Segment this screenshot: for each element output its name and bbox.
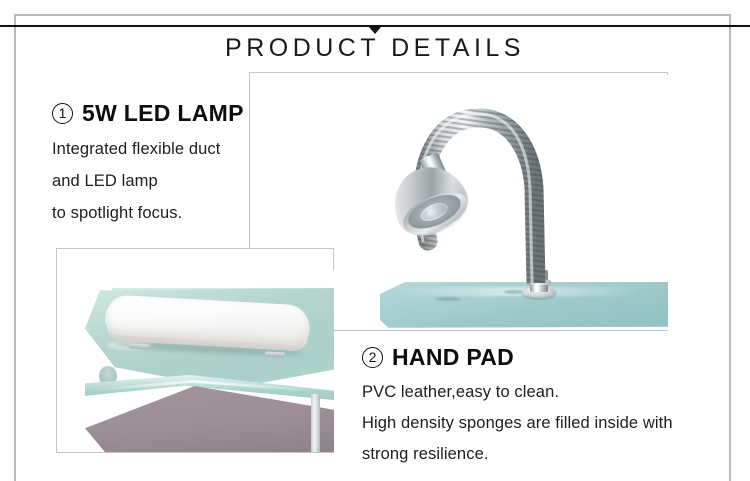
section-lamp-title: 5W LED LAMP	[82, 100, 244, 127]
section-lamp-line: and LED lamp	[52, 172, 262, 191]
section-number-badge: 2	[362, 347, 383, 368]
divider-pointer-icon	[369, 27, 381, 34]
hand-pad-photo	[85, 270, 334, 452]
glass-hole	[435, 297, 461, 301]
section-hand-pad-title: HAND PAD	[392, 344, 514, 371]
cushion-bracket	[265, 351, 285, 357]
product-details-page: PRODUCT DETAILS	[0, 0, 750, 481]
section-lamp-heading: 1 5W LED LAMP	[52, 100, 262, 127]
section-lamp-line: to spotlight focus.	[52, 204, 262, 223]
section-hand-pad-heading: 2 HAND PAD	[362, 344, 692, 371]
page-title: PRODUCT DETAILS	[0, 34, 750, 63]
section-lamp-line: Integrated flexible duct	[52, 140, 262, 159]
hand-pad-cushion	[105, 300, 310, 352]
section-number-badge: 1	[52, 103, 73, 124]
section-hand-pad-line: High density sponges are filled inside w…	[362, 414, 692, 433]
section-hand-pad-line: strong resilience.	[362, 445, 692, 464]
section-hand-pad: 2 HAND PAD PVC leather,easy to clean. Hi…	[362, 344, 692, 464]
glass-hole	[504, 290, 524, 294]
lamp-photo	[380, 75, 668, 330]
section-lamp: 1 5W LED LAMP Integrated flexible duct a…	[52, 100, 262, 223]
cabinet-chrome-trim	[311, 394, 320, 452]
section-hand-pad-line: PVC leather,easy to clean.	[362, 383, 692, 402]
cushion-bracket	[129, 343, 149, 349]
